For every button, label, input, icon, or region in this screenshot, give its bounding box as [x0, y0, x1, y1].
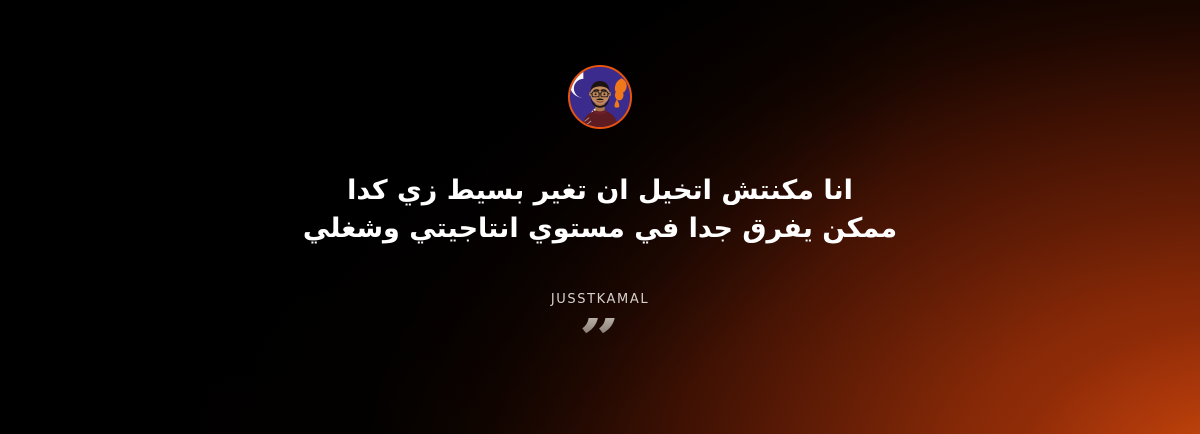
quote-line-1: انا مكنتش اتخيل ان تغير بسيط زي كدا	[0, 172, 1200, 210]
quote-line-2: ممكن يفرق جدا في مستوي انتاجيتي وشغلي	[0, 210, 1200, 248]
quote-mark-container: ”	[0, 318, 1200, 370]
avatar	[568, 65, 632, 129]
quote-card: انا مكنتش اتخيل ان تغير بسيط زي كدا ممكن…	[0, 0, 1200, 434]
card-content: انا مكنتش اتخيل ان تغير بسيط زي كدا ممكن…	[0, 0, 1200, 434]
quote-text: انا مكنتش اتخيل ان تغير بسيط زي كدا ممكن…	[0, 172, 1200, 248]
closing-double-quote-icon: ”	[579, 318, 622, 364]
